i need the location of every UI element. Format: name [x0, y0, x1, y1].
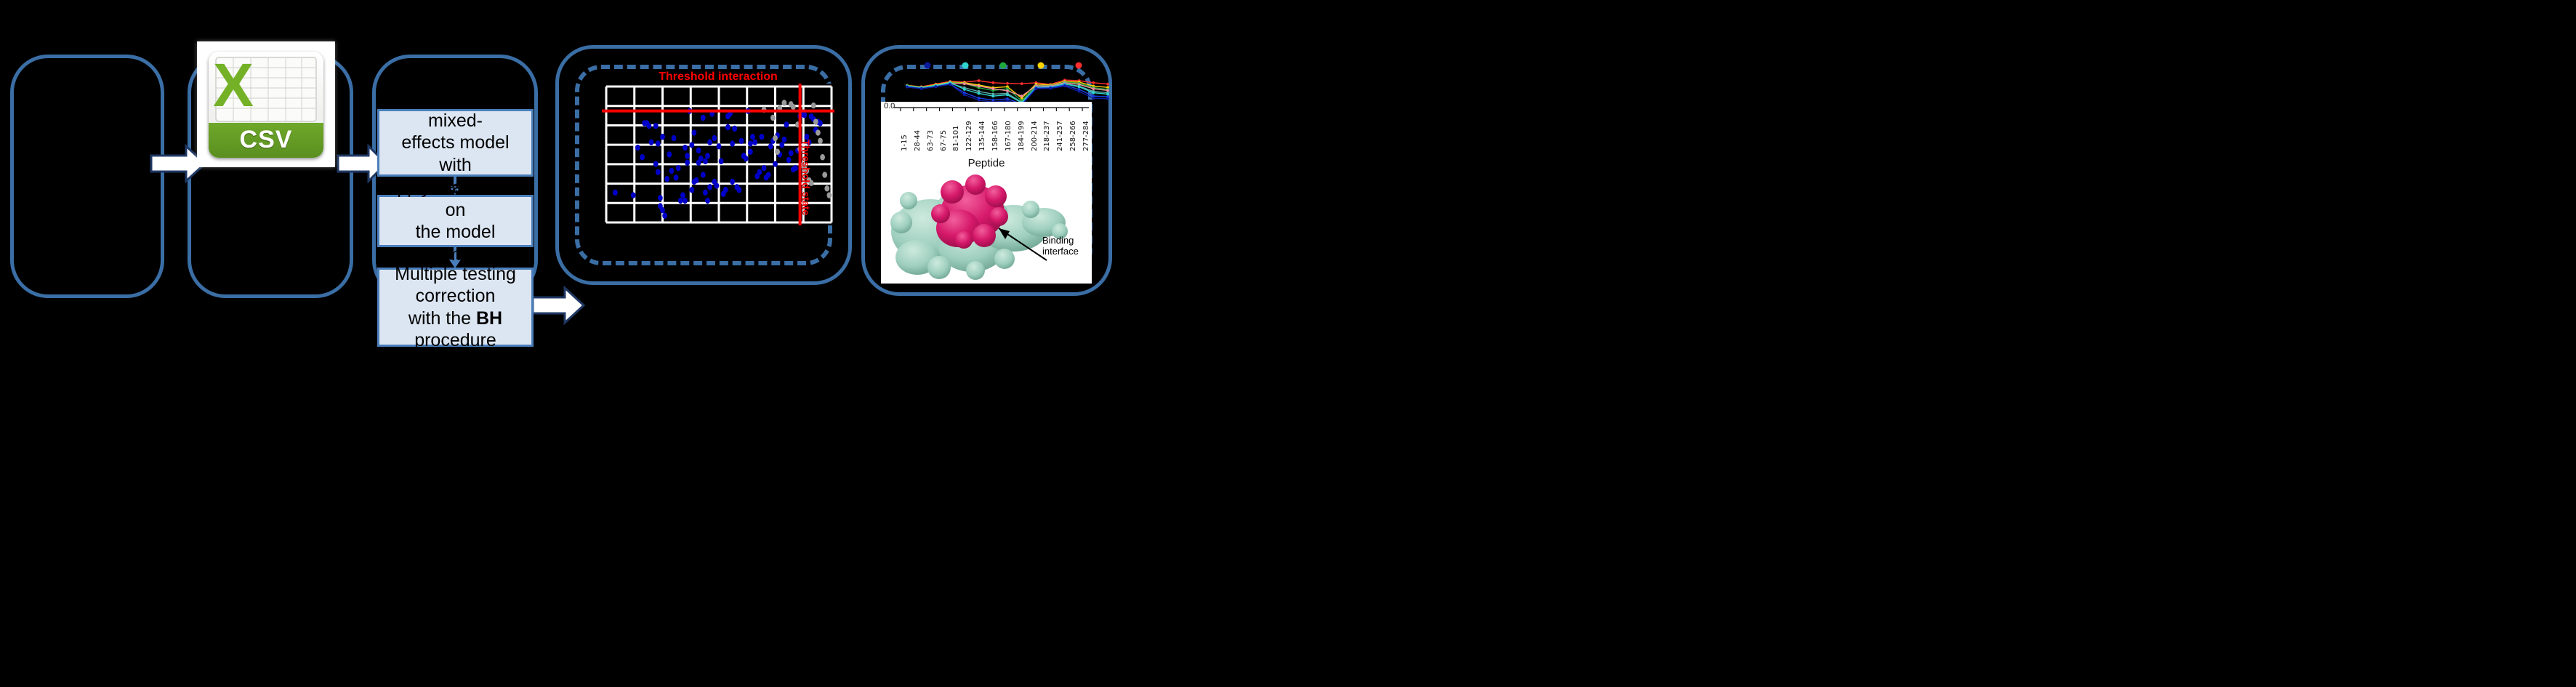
peptide-tick-label: 241-257 — [1056, 121, 1059, 151]
binding-interface-annotation: Binding interface — [1042, 236, 1092, 257]
scatter-title: Threshold interaction — [645, 71, 791, 84]
peptide-tick-label: 258-266 — [1069, 121, 1072, 151]
mt-line2: correction — [416, 286, 496, 306]
csv-extension-label: CSV — [240, 126, 293, 154]
peptide-tick-label: 167-180 — [1005, 121, 1007, 151]
fit-model-line1: Fit a linear mixed- — [413, 88, 498, 131]
peptide-tick-label: 122-129 — [965, 121, 968, 151]
threshold-scatter-plot — [602, 84, 834, 225]
wald-line2: the model parameters — [409, 222, 501, 265]
y-axis-tick-label: 0.0 — [884, 102, 895, 111]
peptide-axis-label: Peptide — [881, 157, 1092, 169]
peptide-tick-label: 81-101 — [952, 126, 955, 151]
process-box-fit-model: Fit a linear mixed- effects model with R… — [377, 109, 534, 177]
input-panel — [10, 55, 164, 298]
process-box-multiple-testing: Multiple testing correction with the BH … — [377, 268, 534, 347]
process-box-wald-tests: Apply Wald tests on the model parameters — [377, 195, 534, 247]
peptide-tick-label: 200-214 — [1031, 121, 1034, 151]
peptide-line-chart — [894, 60, 1112, 108]
csv-x-letter: X — [213, 55, 254, 116]
peptide-tick-label: 277-284 — [1082, 121, 1085, 151]
csv-extension-band: CSV — [209, 123, 323, 158]
mt-line3-pre: with the — [408, 308, 476, 329]
peptide-axis-ticks: 1-1528-4463-7367-7581-101122-129135-1441… — [894, 106, 1089, 151]
binding-interface-line2: interface — [1042, 246, 1092, 257]
peptide-tick-label: 28-44 — [914, 130, 917, 151]
wald-line1-pre: Apply — [385, 177, 435, 198]
structure-white-card: 1-1528-4463-7367-7581-101122-129135-1441… — [881, 102, 1092, 284]
peptide-tick-label: 218-237 — [1043, 121, 1046, 151]
mt-line3-post: procedure — [414, 330, 496, 350]
peptide-tick-label: 135-144 — [978, 121, 981, 151]
mt-bh-bold: BH — [476, 308, 502, 329]
csv-file-icon: X CSV — [197, 41, 335, 167]
peptide-tick-label: 67-75 — [940, 130, 943, 151]
protein-structure-image — [888, 172, 1084, 281]
threshold-state-label: Threshold state — [800, 140, 812, 215]
fit-model-line2: effects model with — [401, 132, 509, 175]
peptide-tick-label: 184-199 — [1018, 121, 1021, 151]
arrow-stats-to-scatter — [531, 285, 585, 326]
mt-line1: Multiple testing — [395, 264, 516, 284]
peptide-tick-label: 158-166 — [991, 121, 994, 151]
binding-interface-line1: Binding — [1042, 236, 1092, 246]
peptide-tick-label: 63-73 — [927, 130, 930, 151]
peptide-tick-label: 1-15 — [901, 134, 903, 151]
wald-line1-post: on — [446, 200, 466, 220]
csv-icon-tile: X CSV — [209, 52, 323, 158]
wald-tests-bold: Wald tests — [435, 177, 526, 198]
